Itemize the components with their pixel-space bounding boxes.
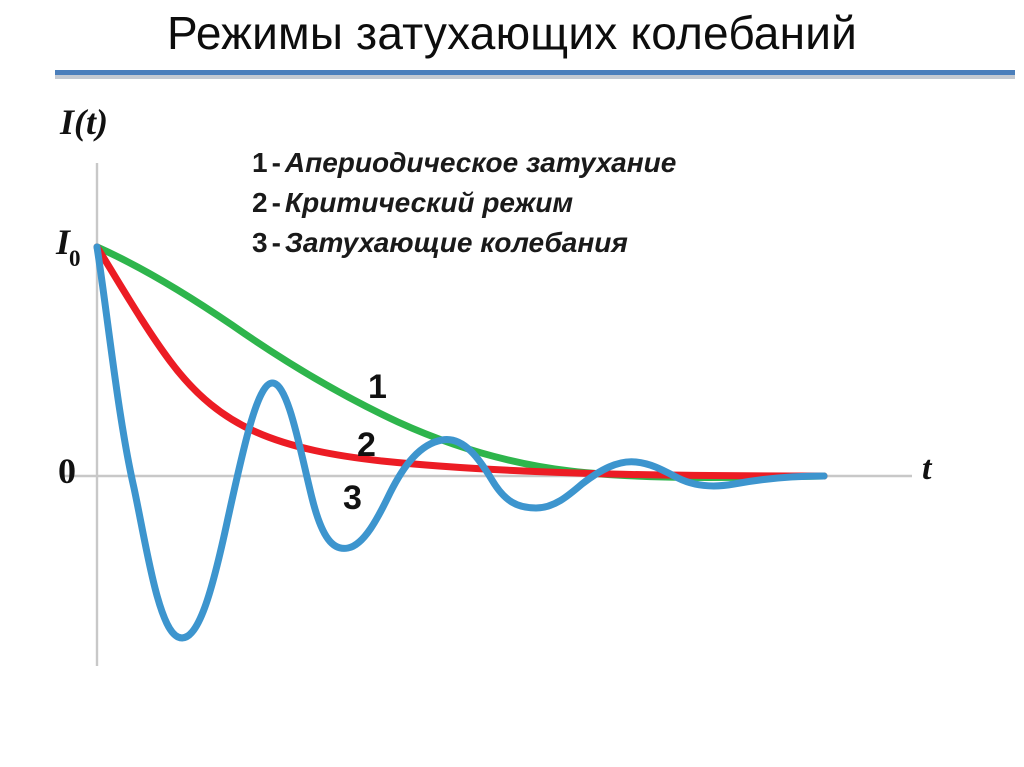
curve-tag-3: 3: [343, 481, 362, 515]
legend-item-2-number: 2: [252, 187, 268, 218]
legend-item-3-dash: -: [268, 227, 285, 258]
legend-item-1-label: Апериодическое затухание: [285, 147, 676, 178]
legend-item-1: 1-Апериодическое затухание: [252, 143, 912, 183]
x-axis-label: t: [922, 450, 931, 488]
i0-subscript: 0: [69, 246, 81, 271]
legend-item-3: 3-Затухающие колебания: [252, 223, 912, 263]
legend-item-1-dash: -: [268, 147, 285, 178]
legend: 1-Апериодическое затухание 2-Критический…: [252, 143, 912, 263]
page-title: Режимы затухающих колебаний: [0, 2, 1024, 64]
legend-item-2: 2-Критический режим: [252, 183, 912, 223]
title-divider-shadow: [55, 75, 1015, 79]
legend-item-1-number: 1: [252, 147, 268, 178]
curve-tag-1: 1: [368, 370, 387, 404]
curve-tag-2: 2: [357, 428, 376, 462]
legend-item-2-dash: -: [268, 187, 285, 218]
legend-item-3-number: 3: [252, 227, 268, 258]
origin-label: 0: [58, 450, 76, 492]
legend-item-3-label: Затухающие колебания: [285, 227, 628, 258]
i0-base: I: [56, 222, 70, 262]
y-axis-initial-value-label: I0: [56, 221, 82, 268]
legend-item-2-label: Критический режим: [285, 187, 573, 218]
damped-oscillation-figure: I(t) I0 0 t 1 2 3 1-Апериодическое затух…: [0, 88, 1024, 767]
y-axis-label: I(t): [60, 101, 108, 143]
